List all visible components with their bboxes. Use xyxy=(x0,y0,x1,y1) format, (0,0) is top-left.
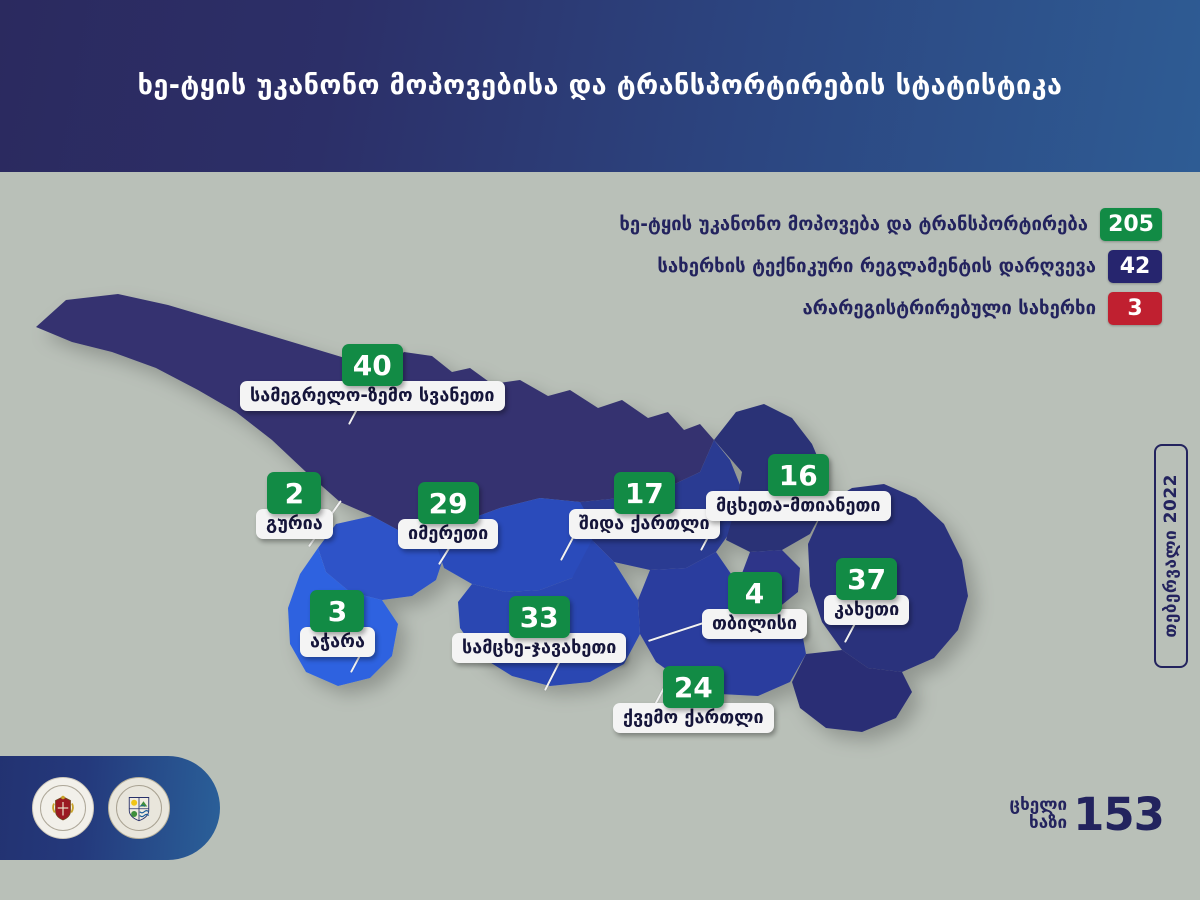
callout-value: 17 xyxy=(614,472,675,514)
callout-value: 2 xyxy=(267,472,321,514)
callout-value: 16 xyxy=(768,454,829,496)
legend-label: სახერხის ტექნიკური რეგლამენტის დარღვევა xyxy=(657,256,1096,277)
legend-badge-sawmill-violation: 42 xyxy=(1108,250,1162,283)
hotline: ცხელი ხაზი 153 xyxy=(1010,788,1164,841)
legend-item: ხე-ტყის უკანონო მოპოვება და ტრანსპორტირე… xyxy=(619,208,1162,241)
callout-mtskheta-mtianeti[interactable]: 16 მცხეთა-მთიანეთი xyxy=(706,454,891,521)
callout-adjara[interactable]: 3 აჭარა xyxy=(300,590,375,657)
hotline-number: 153 xyxy=(1073,788,1164,841)
legend-item: სახერხის ტექნიკური რეგლამენტის დარღვევა … xyxy=(619,250,1162,283)
footer-logo-bar xyxy=(0,756,220,860)
callout-shida-kartli[interactable]: 17 შიდა ქართლი xyxy=(569,472,720,539)
legend-label: არარეგისტრირებული სახერხი xyxy=(802,298,1096,319)
callout-value: 37 xyxy=(836,558,897,600)
callout-value: 24 xyxy=(663,666,724,708)
legend-badge-illegal-logging: 205 xyxy=(1100,208,1162,241)
callout-samtskhe-javakheti[interactable]: 33 სამცხე-ჯავახეთი xyxy=(452,596,626,663)
agency-emblem-icon xyxy=(108,777,170,839)
callout-imereti[interactable]: 29 იმერეთი xyxy=(398,482,498,549)
callout-value: 4 xyxy=(728,572,782,614)
legend-label: ხე-ტყის უკანონო მოპოვება და ტრანსპორტირე… xyxy=(619,214,1088,235)
callout-kvemo-kartli[interactable]: 24 ქვემო ქართლი xyxy=(613,666,774,733)
agency-shield-icon xyxy=(124,793,154,823)
date-tab: თებერვალი 2022 xyxy=(1154,444,1188,668)
callout-value: 40 xyxy=(342,344,403,386)
hotline-line2: ხაზი xyxy=(1010,815,1068,832)
hotline-line1: ცხელი xyxy=(1010,797,1068,814)
ministry-emblem-icon xyxy=(32,777,94,839)
callout-guria[interactable]: 2 გურია xyxy=(256,472,333,539)
coat-of-arms-icon xyxy=(48,793,78,823)
header-banner: ხე-ტყის უკანონო მოპოვებისა და ტრანსპორტი… xyxy=(0,0,1200,172)
page-title: ხე-ტყის უკანონო მოპოვებისა და ტრანსპორტი… xyxy=(112,70,1089,102)
legend-item: არარეგისტრირებული სახერხი 3 xyxy=(619,292,1162,325)
callout-value: 3 xyxy=(310,590,364,632)
callout-samegrelo-zemo-svaneti[interactable]: 40 სამეგრელო-ზემო სვანეთი xyxy=(240,344,505,411)
callout-kakheti[interactable]: 37 კახეთი xyxy=(824,558,909,625)
callout-tbilisi[interactable]: 4 თბილისი xyxy=(702,572,807,639)
legend-badge-unregistered-sawmill: 3 xyxy=(1108,292,1162,325)
legend: ხე-ტყის უკანონო მოპოვება და ტრანსპორტირე… xyxy=(619,208,1162,325)
callout-value: 29 xyxy=(418,482,479,524)
date-tab-label: თებერვალი 2022 xyxy=(1161,474,1181,638)
callout-value: 33 xyxy=(509,596,570,638)
